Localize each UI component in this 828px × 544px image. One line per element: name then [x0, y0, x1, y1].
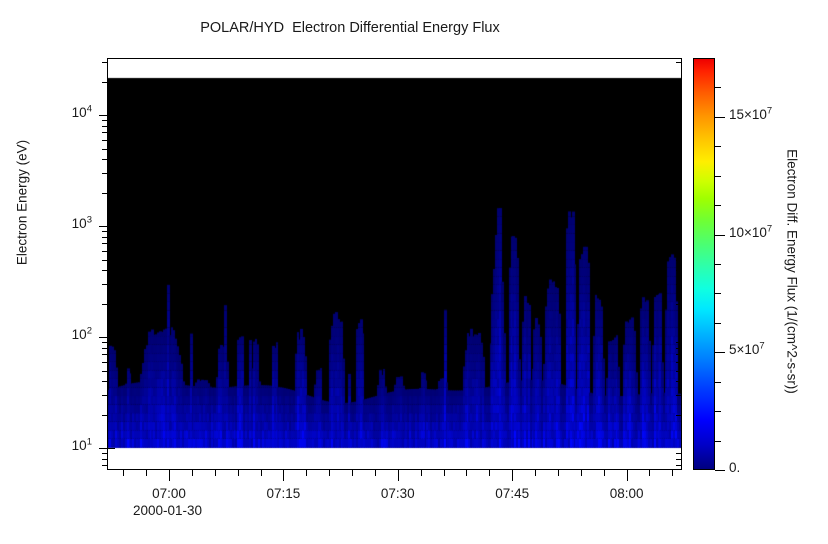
- y-axis-label: 104: [46, 105, 92, 120]
- y-axis-label: 101: [46, 438, 92, 453]
- y-minor-tick-right: [676, 132, 682, 133]
- y-minor-tick: [102, 173, 108, 174]
- y-minor-tick: [102, 140, 108, 141]
- x-minor-tick: [329, 470, 330, 476]
- y-minor-tick: [102, 348, 108, 349]
- x-minor-tick: [123, 470, 124, 476]
- y-minor-tick: [102, 260, 108, 261]
- y-minor-tick-right: [676, 159, 682, 160]
- colorbar-minor-tick: [715, 441, 721, 442]
- y-minor-tick: [102, 82, 108, 83]
- y-minor-tick: [102, 237, 108, 238]
- y-minor-tick-right: [676, 284, 682, 285]
- y-minor-tick-right: [676, 251, 682, 252]
- x-minor-tick: [604, 470, 605, 476]
- y-minor-tick: [102, 465, 108, 466]
- y-minor-tick-right: [676, 82, 682, 83]
- x-axis-label: 07:00: [129, 486, 209, 501]
- y-minor-tick: [102, 415, 108, 416]
- x-minor-tick: [649, 470, 650, 476]
- colorbar-major-tick: [715, 235, 725, 236]
- y-minor-tick: [102, 270, 108, 271]
- x-minor-tick: [146, 470, 147, 476]
- y-axis-title: Electron Energy (eV): [15, 13, 30, 393]
- colorbar-major-tick: [715, 117, 725, 118]
- y-minor-tick: [102, 231, 108, 232]
- y-minor-tick: [102, 243, 108, 244]
- y-minor-tick-right: [676, 354, 682, 355]
- y-minor-tick: [102, 284, 108, 285]
- y-minor-tick: [102, 304, 108, 305]
- y-minor-tick-right: [676, 270, 682, 271]
- colorbar-label: 10×107: [729, 225, 772, 240]
- page-title: POLAR/HYD Electron Differential Energy F…: [0, 20, 700, 36]
- colorbar-minor-tick: [715, 264, 721, 265]
- y-minor-tick: [102, 62, 108, 63]
- y-minor-tick: [102, 381, 108, 382]
- y-minor-tick: [102, 459, 108, 460]
- x-minor-tick: [558, 470, 559, 476]
- x-axis-label: 08:00: [587, 486, 667, 501]
- colorbar-major-tick: [715, 470, 725, 471]
- y-minor-tick-right: [676, 140, 682, 141]
- x-minor-tick: [352, 470, 353, 476]
- y-minor-tick-right: [676, 173, 682, 174]
- y-minor-tick: [102, 362, 108, 363]
- x-minor-tick: [444, 470, 445, 476]
- y-minor-tick-right: [676, 193, 682, 194]
- y-major-tick-inner: [107, 226, 115, 227]
- x-axis-label: 07:45: [472, 486, 552, 501]
- x-minor-tick: [421, 470, 422, 476]
- x-axis-label: 07:30: [358, 486, 438, 501]
- y-minor-tick: [102, 371, 108, 372]
- y-minor-tick: [102, 395, 108, 396]
- x-major-tick: [512, 470, 513, 481]
- x-axis-label: 07:15: [243, 486, 323, 501]
- x-minor-tick: [535, 470, 536, 476]
- y-major-tick-inner: [107, 337, 115, 338]
- x-minor-tick: [581, 470, 582, 476]
- colorbar-minor-tick: [715, 176, 721, 177]
- colorbar-minor-tick: [715, 411, 721, 412]
- x-major-tick: [627, 470, 628, 481]
- x-minor-tick: [238, 470, 239, 476]
- spectrogram-canvas: [108, 59, 681, 469]
- colorbar-title: Electron Diff. Energy Flux (1/(cm^2-s-sr…: [785, 122, 800, 422]
- y-minor-tick-right: [676, 459, 682, 460]
- colorbar-gradient: [693, 58, 715, 470]
- y-axis-label: 102: [46, 327, 92, 342]
- y-minor-tick-right: [676, 453, 682, 454]
- y-minor-tick-right: [676, 348, 682, 349]
- y-minor-tick-right: [676, 304, 682, 305]
- y-minor-tick: [102, 120, 108, 121]
- x-minor-tick: [672, 470, 673, 476]
- x-minor-tick: [306, 470, 307, 476]
- colorbar-minor-tick: [715, 146, 721, 147]
- y-minor-tick-right: [676, 126, 682, 127]
- x-minor-tick: [261, 470, 262, 476]
- y-minor-tick: [102, 354, 108, 355]
- y-minor-tick-right: [676, 260, 682, 261]
- y-minor-tick: [102, 159, 108, 160]
- colorbar-label: 15×107: [729, 107, 772, 122]
- y-minor-tick-right: [676, 237, 682, 238]
- x-axis-date-label: 2000-01-30: [133, 503, 202, 518]
- y-major-tick-inner: [107, 115, 115, 116]
- x-minor-tick: [215, 470, 216, 476]
- y-minor-tick: [102, 342, 108, 343]
- colorbar: 0.5×10710×10715×107: [693, 58, 715, 470]
- y-minor-tick: [102, 132, 108, 133]
- colorbar-minor-tick: [715, 382, 721, 383]
- x-minor-tick: [489, 470, 490, 476]
- colorbar-minor-tick: [715, 205, 721, 206]
- x-minor-tick: [375, 470, 376, 476]
- x-major-tick: [283, 470, 284, 481]
- y-minor-tick-right: [676, 415, 682, 416]
- colorbar-minor-tick: [715, 87, 721, 88]
- y-minor-tick-right: [676, 243, 682, 244]
- colorbar-label: 0.: [729, 460, 740, 475]
- y-minor-tick-right: [676, 465, 682, 466]
- colorbar-label: 5×107: [729, 342, 765, 357]
- y-minor-tick-right: [676, 62, 682, 63]
- y-minor-tick-right: [676, 362, 682, 363]
- colorbar-minor-tick: [715, 323, 721, 324]
- y-axis-label: 103: [46, 216, 92, 231]
- x-major-tick: [169, 470, 170, 481]
- y-minor-tick-right: [676, 120, 682, 121]
- y-minor-tick: [102, 149, 108, 150]
- y-minor-tick: [102, 251, 108, 252]
- y-minor-tick-right: [676, 149, 682, 150]
- x-major-tick: [398, 470, 399, 481]
- spectrogram-plot-area: [107, 58, 682, 470]
- y-minor-tick: [102, 193, 108, 194]
- colorbar-major-tick: [715, 352, 725, 353]
- y-minor-tick-right: [676, 231, 682, 232]
- colorbar-minor-tick: [715, 293, 721, 294]
- x-minor-tick: [466, 470, 467, 476]
- y-major-tick-inner: [107, 448, 115, 449]
- y-minor-tick: [102, 126, 108, 127]
- y-minor-tick-right: [676, 371, 682, 372]
- y-minor-tick: [102, 453, 108, 454]
- y-minor-tick-right: [676, 395, 682, 396]
- y-minor-tick-right: [676, 342, 682, 343]
- y-minor-tick-right: [676, 381, 682, 382]
- x-minor-tick: [192, 470, 193, 476]
